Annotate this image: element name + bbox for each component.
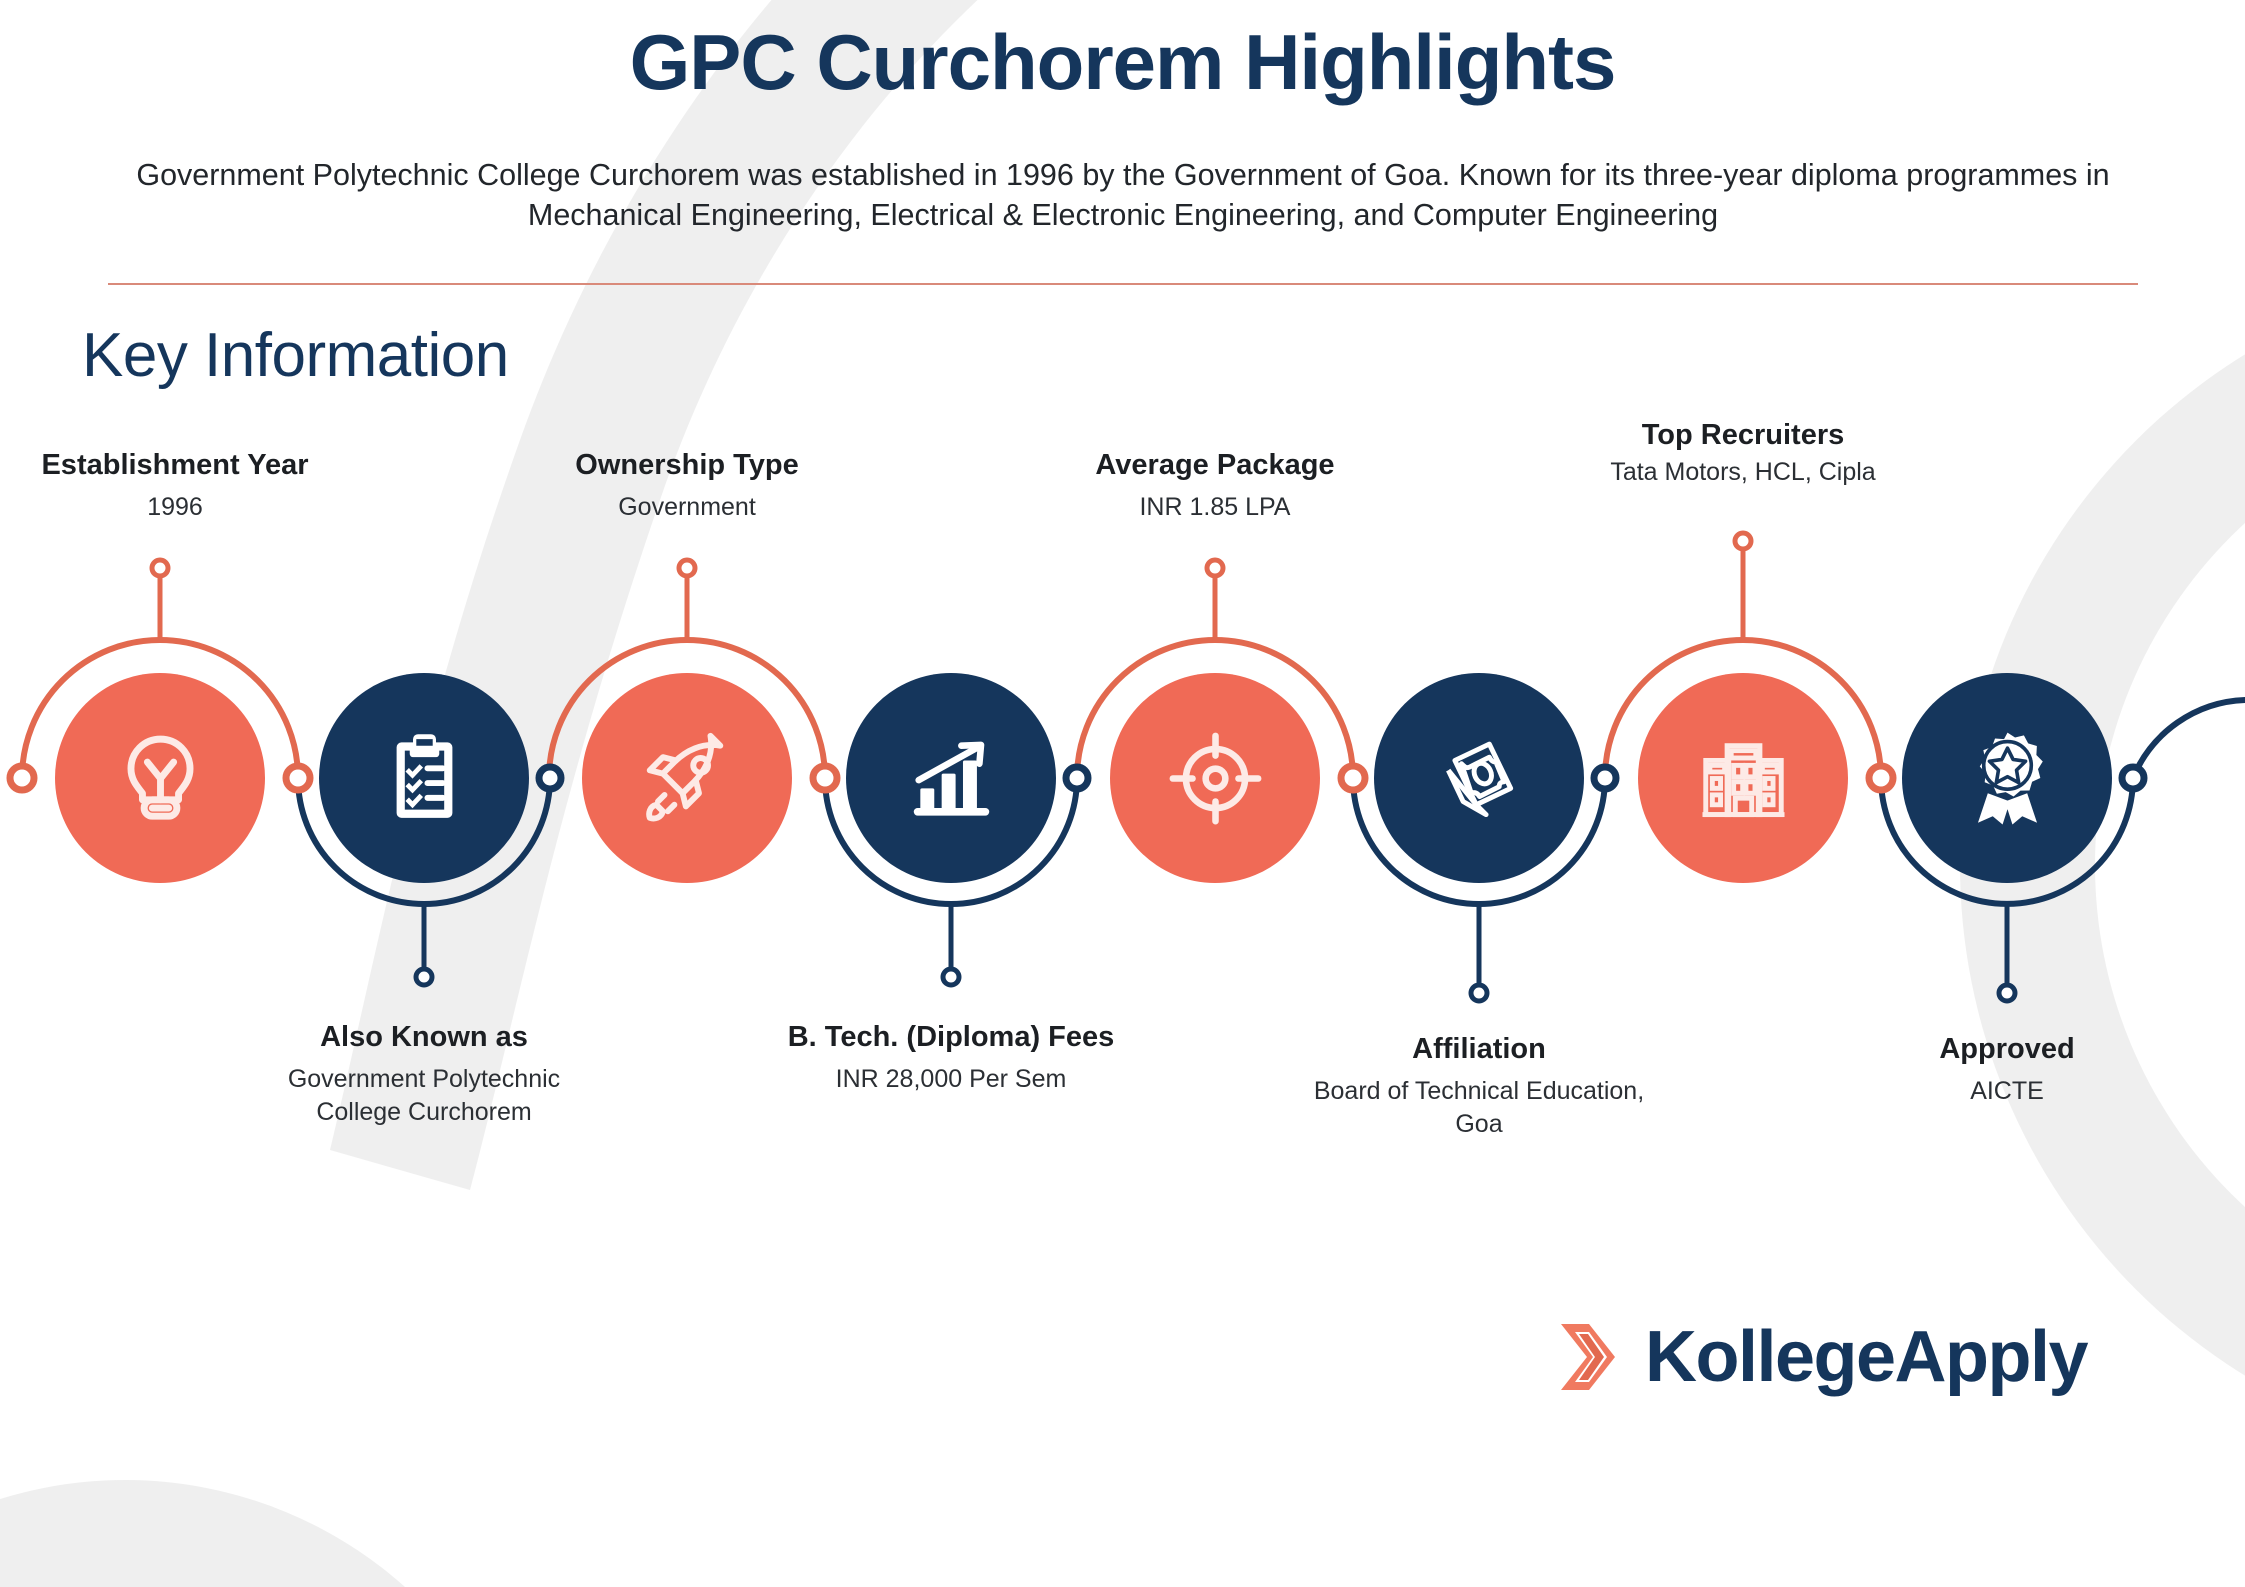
label-title: Establishment Year (10, 448, 340, 482)
label-value: Tata Motors, HCL, Cipla (1588, 456, 1898, 489)
label-ownership-type: Ownership Type Government (537, 448, 837, 524)
label-title: Also Known as (264, 1020, 584, 1054)
label-value: INR 1.85 LPA (1055, 491, 1375, 524)
node-establishment-year[interactable] (55, 673, 265, 883)
clipboard-icon (372, 726, 477, 831)
building-icon (1691, 726, 1796, 831)
award-icon (1955, 726, 2060, 831)
money-icon (1427, 726, 1532, 831)
label-also-known-as: Also Known as Government Polytechnic Col… (264, 1020, 584, 1128)
label-approved: Approved AICTE (1852, 1032, 2162, 1108)
label-value: INR 28,000 Per Sem (746, 1063, 1156, 1096)
header: GPC Curchorem Highlights (0, 0, 2245, 108)
logo-wordmark: KollegeApply (1645, 1321, 2087, 1393)
label-value: Government Polytechnic College Curchorem (264, 1063, 584, 1128)
label-value: 1996 (10, 491, 340, 524)
label-title: Average Package (1055, 448, 1375, 482)
node-approved[interactable] (1902, 673, 2112, 883)
node-top-recruiters[interactable] (1638, 673, 1848, 883)
node-affiliation[interactable] (1374, 673, 1584, 883)
chevrons-logo-icon (1553, 1318, 1625, 1396)
label-establishment-year: Establishment Year 1996 (10, 448, 340, 524)
node-also-known-as[interactable] (319, 673, 529, 883)
label-title: Approved (1852, 1032, 2162, 1066)
label-title: Top Recruiters (1588, 418, 1898, 452)
label-average-package: Average Package INR 1.85 LPA (1055, 448, 1375, 524)
label-btech-fees: B. Tech. (Diploma) Fees INR 28,000 Per S… (746, 1020, 1156, 1096)
label-value: AICTE (1852, 1075, 2162, 1108)
bar-chart-icon (899, 726, 1004, 831)
lightbulb-icon (108, 726, 213, 831)
node-btech-fees[interactable] (846, 673, 1056, 883)
label-value: Board of Technical Education, Goa (1284, 1075, 1674, 1140)
label-title: Affiliation (1284, 1032, 1674, 1066)
page-title: GPC Curchorem Highlights (0, 18, 2245, 108)
kollegeapply-logo[interactable]: KollegeApply (1553, 1318, 2087, 1396)
label-title: B. Tech. (Diploma) Fees (746, 1020, 1156, 1054)
node-average-package[interactable] (1110, 673, 1320, 883)
label-value: Government (537, 491, 837, 524)
target-icon (1163, 726, 1268, 831)
label-affiliation: Affiliation Board of Technical Education… (1284, 1032, 1674, 1140)
label-title: Ownership Type (537, 448, 837, 482)
node-ownership-type[interactable] (582, 673, 792, 883)
label-top-recruiters: Top Recruiters Tata Motors, HCL, Cipla (1588, 418, 1898, 489)
rocket-icon (635, 726, 740, 831)
